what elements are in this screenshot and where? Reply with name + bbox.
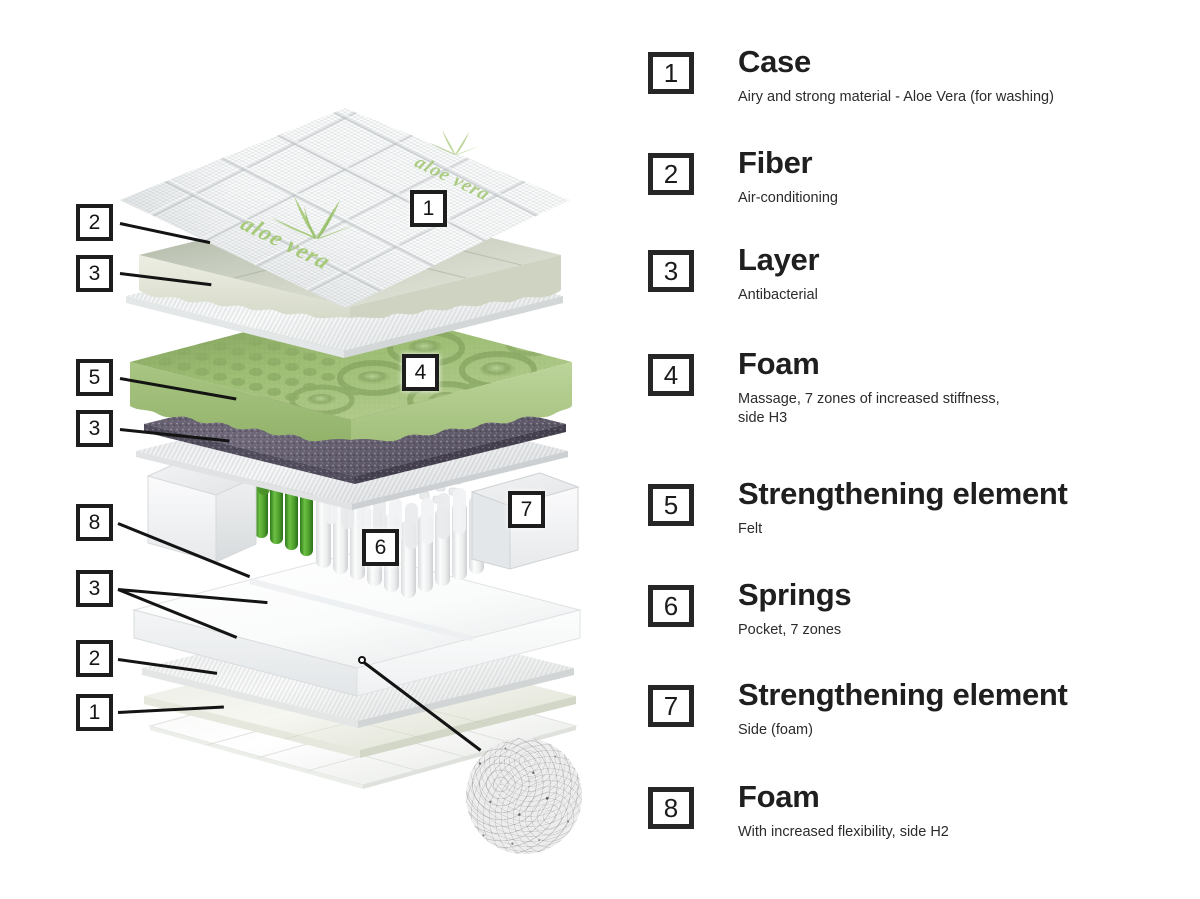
callout-box-1-top[interactable]: 1: [410, 190, 447, 227]
legend-list: 1 Case Airy and strong material - Aloe V…: [648, 52, 1188, 852]
legend-desc-6: Pocket, 7 zones: [738, 621, 1188, 641]
legend-title-7: Strengthening element: [738, 677, 1188, 713]
legend-title-5: Strengthening element: [738, 476, 1188, 512]
legend-number-7: 7: [648, 685, 694, 727]
callout-box-2-top[interactable]: 2: [76, 204, 113, 241]
infographic-page: aloe vera aloe vera: [0, 0, 1200, 899]
callout-box-3-low[interactable]: 3: [76, 570, 113, 607]
detail-anchor-dot: [358, 656, 366, 664]
legend-title-3: Layer: [738, 242, 1188, 278]
legend-title-6: Springs: [738, 577, 1188, 613]
callout-box-3-top[interactable]: 3: [76, 255, 113, 292]
legend-desc-7: Side (foam): [738, 721, 1188, 741]
callout-box-4[interactable]: 4: [402, 354, 439, 391]
case-fabric-texture: [120, 108, 570, 308]
foam-texture-detail-circle: [466, 738, 582, 854]
legend-text-2: Fiber Air-conditioning: [738, 145, 1188, 208]
callout-box-3-mid[interactable]: 3: [76, 410, 113, 447]
legend-desc-4: Massage, 7 zones of increased stiffness,…: [738, 390, 1188, 429]
legend-number-1: 1: [648, 52, 694, 94]
layer-case-top: aloe vera aloe vera: [120, 108, 570, 308]
legend-number-8: 8: [648, 787, 694, 829]
callout-box-1-bottom[interactable]: 1: [76, 694, 113, 731]
legend-title-8: Foam: [738, 779, 1188, 815]
legend-text-3: Layer Antibacterial: [738, 242, 1188, 305]
legend-text-4: Foam Massage, 7 zones of increased stiff…: [738, 346, 1188, 429]
callout-box-2-bottom[interactable]: 2: [76, 640, 113, 677]
legend-text-1: Case Airy and strong material - Aloe Ver…: [738, 44, 1188, 107]
legend-title-1: Case: [738, 44, 1188, 80]
legend-text-6: Springs Pocket, 7 zones: [738, 577, 1188, 640]
legend-title-4: Foam: [738, 346, 1188, 382]
legend-text-7: Strengthening element Side (foam): [738, 677, 1188, 740]
legend-number-4: 4: [648, 354, 694, 396]
callout-box-6[interactable]: 6: [362, 529, 399, 566]
legend-number-5: 5: [648, 484, 694, 526]
legend-desc-3: Antibacterial: [738, 286, 1188, 306]
callout-box-5[interactable]: 5: [76, 359, 113, 396]
legend-desc-8: With increased flexibility, side H2: [738, 823, 1188, 843]
mattress-exploded-diagram: aloe vera aloe vera: [0, 0, 640, 899]
legend-number-3: 3: [648, 250, 694, 292]
legend-text-8: Foam With increased flexibility, side H2: [738, 779, 1188, 842]
legend-desc-1: Airy and strong material - Aloe Vera (fo…: [738, 88, 1188, 108]
legend-text-5: Strengthening element Felt: [738, 476, 1188, 539]
callout-box-7[interactable]: 7: [508, 491, 545, 528]
legend-number-6: 6: [648, 585, 694, 627]
legend-title-2: Fiber: [738, 145, 1188, 181]
legend-desc-5: Felt: [738, 520, 1188, 540]
legend-desc-2: Air-conditioning: [738, 189, 1188, 209]
callout-box-8[interactable]: 8: [76, 504, 113, 541]
legend-number-2: 2: [648, 153, 694, 195]
